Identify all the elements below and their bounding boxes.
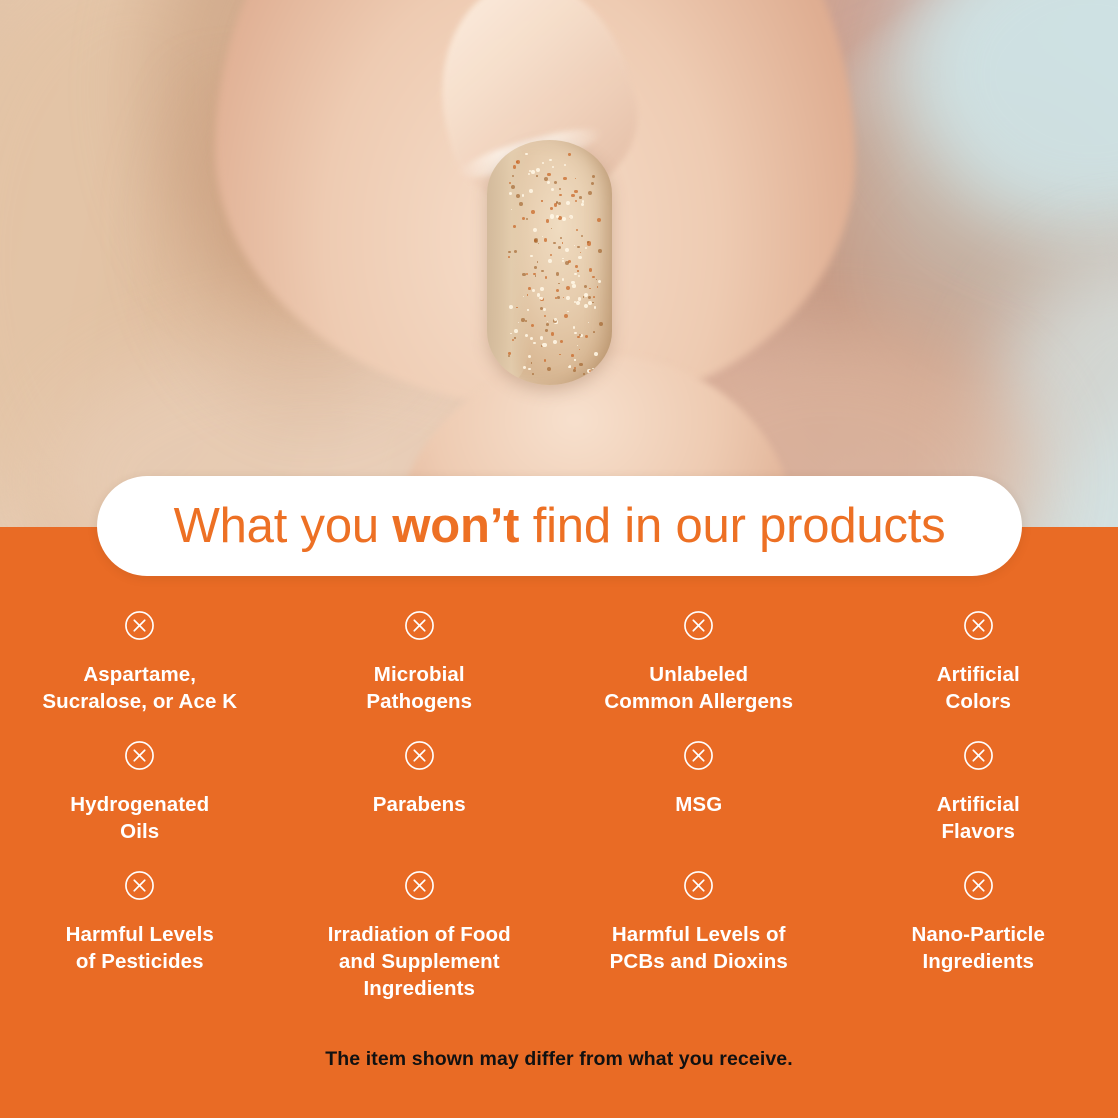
product-photo <box>0 0 1118 527</box>
circle-x-icon <box>404 610 435 641</box>
footer: The item shown may differ from what you … <box>0 1048 1118 1071</box>
circle-x-icon <box>963 870 994 901</box>
excluded-item-label: Aspartame, Sucralose, or Ace K <box>42 661 237 715</box>
excluded-item: MSG <box>559 740 839 870</box>
excluded-item-label: Parabens <box>373 791 466 818</box>
excluded-item-label: Unlabeled Common Allergens <box>604 661 793 715</box>
excluded-item-label: MSG <box>675 791 722 818</box>
tablet-side-rim <box>487 142 531 383</box>
page-title: What you won’t find in our products <box>174 502 946 551</box>
excluded-item-label: Harmful Levels of PCBs and Dioxins <box>610 921 788 975</box>
photo-blur-blob <box>900 0 1118 240</box>
headline-card: What you won’t find in our products <box>97 476 1022 576</box>
excluded-item-label: Irradiation of Food and Supplement Ingre… <box>328 921 511 1002</box>
circle-x-icon <box>404 740 435 771</box>
excluded-item: Harmful Levels of PCBs and Dioxins <box>559 870 839 1000</box>
excluded-item: Nano-Particle Ingredients <box>839 870 1118 1000</box>
excluded-item: Microbial Pathogens <box>280 610 560 740</box>
excluded-item: Parabens <box>280 740 560 870</box>
excluded-ingredients-grid: Aspartame, Sucralose, or Ace KMicrobial … <box>0 610 1118 1000</box>
circle-x-icon <box>683 740 714 771</box>
circle-x-icon <box>683 610 714 641</box>
circle-x-icon <box>963 740 994 771</box>
excluded-item-label: Harmful Levels of Pesticides <box>66 921 214 975</box>
circle-x-icon <box>963 610 994 641</box>
excluded-item-label: Nano-Particle Ingredients <box>912 921 1045 975</box>
excluded-item: Artificial Flavors <box>839 740 1118 870</box>
excluded-item: Unlabeled Common Allergens <box>559 610 839 740</box>
excluded-item-label: Artificial Colors <box>937 661 1020 715</box>
excluded-item-label: Hydrogenated Oils <box>70 791 209 845</box>
circle-x-icon <box>124 870 155 901</box>
excluded-item: Artificial Colors <box>839 610 1118 740</box>
excluded-item: Aspartame, Sucralose, or Ace K <box>0 610 280 740</box>
excluded-item: Harmful Levels of Pesticides <box>0 870 280 1000</box>
excluded-item-label: Artificial Flavors <box>937 791 1020 845</box>
excluded-item: Irradiation of Food and Supplement Ingre… <box>280 870 560 1000</box>
product-claims-graphic: What you won’t find in our products Aspa… <box>0 0 1118 1118</box>
circle-x-icon <box>683 870 714 901</box>
supplement-tablet <box>487 140 612 385</box>
circle-x-icon <box>124 610 155 641</box>
headline-part-1: What you <box>174 499 393 553</box>
disclaimer-text: The item shown may differ from what you … <box>0 1048 1118 1071</box>
excluded-item: Hydrogenated Oils <box>0 740 280 870</box>
circle-x-icon <box>404 870 435 901</box>
headline-emphasis: won’t <box>392 499 519 553</box>
circle-x-icon <box>124 740 155 771</box>
headline-part-2: find in our products <box>519 499 945 553</box>
excluded-item-label: Microbial Pathogens <box>366 661 472 715</box>
tablet-body <box>487 140 612 385</box>
